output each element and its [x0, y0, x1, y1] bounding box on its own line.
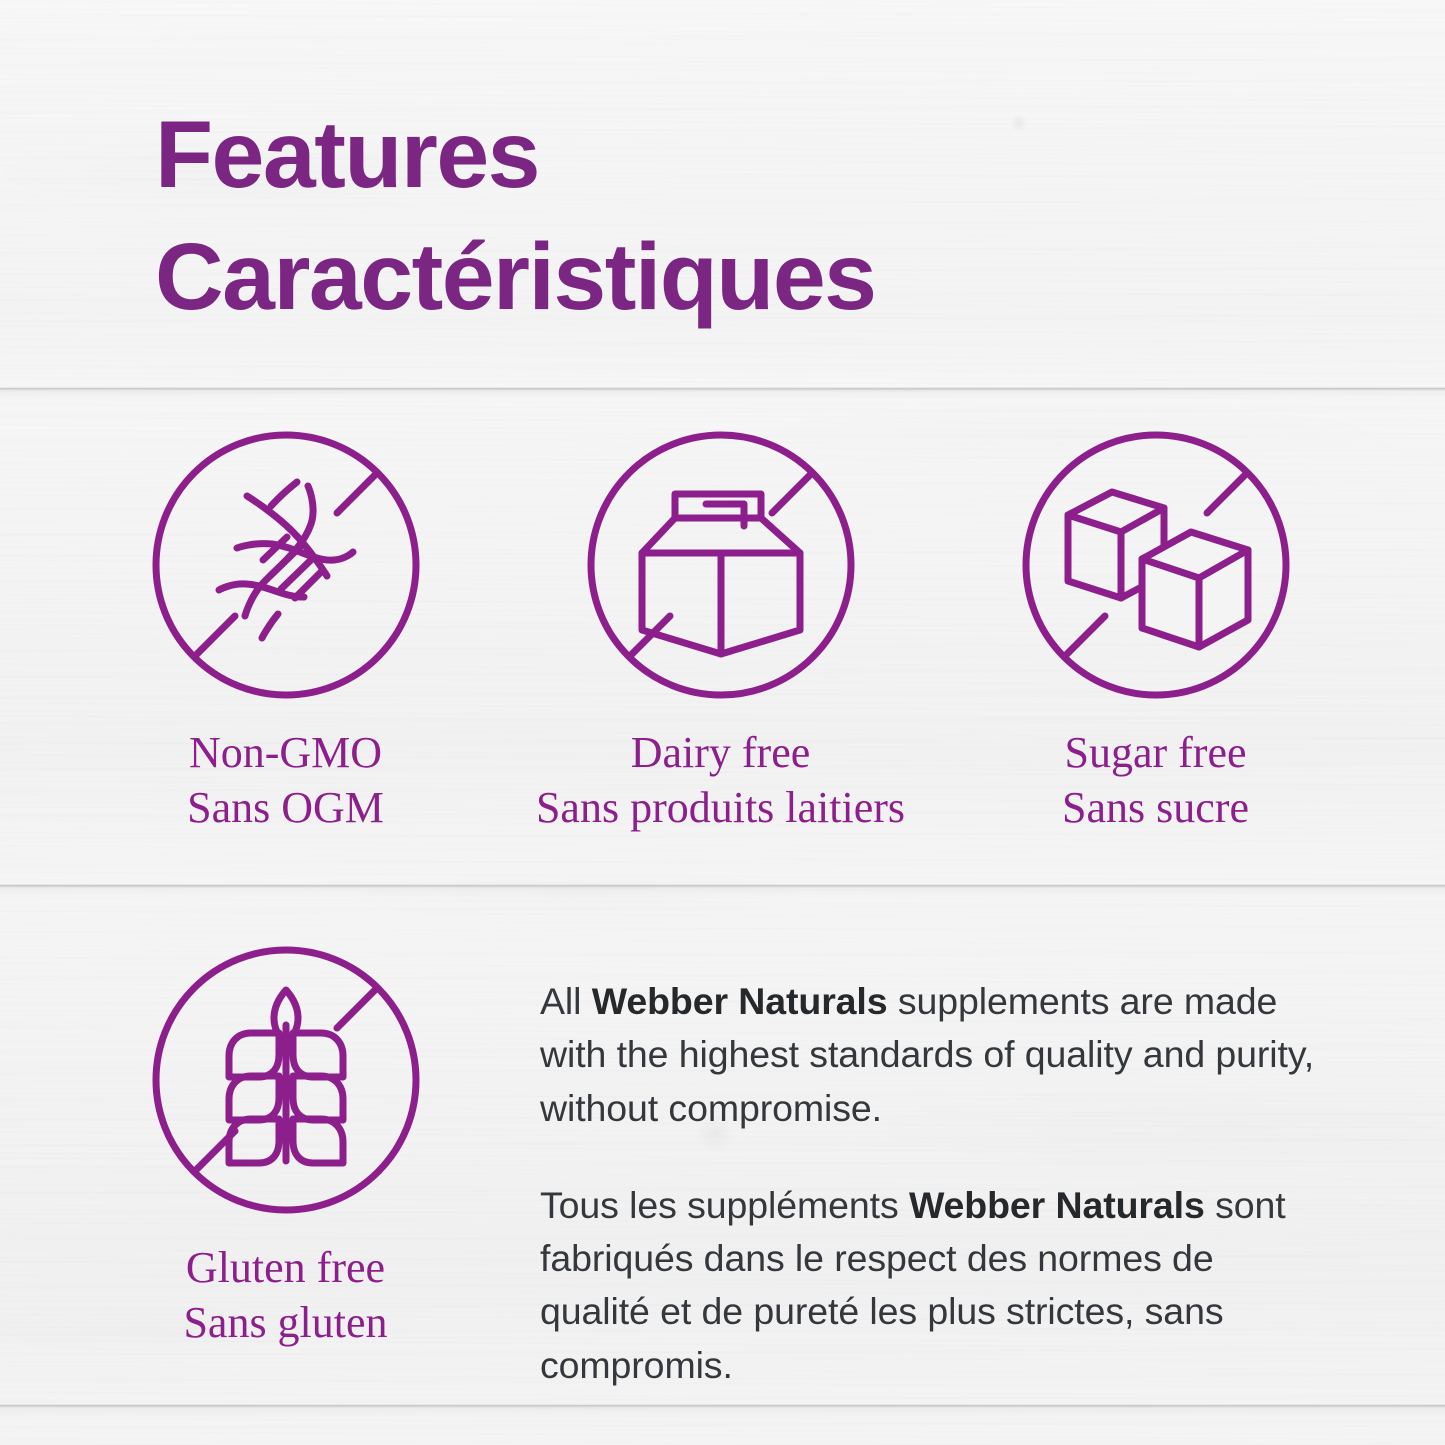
no-dairy-milk-carton-icon — [576, 420, 866, 710]
copy-en-brand: Webber Naturals — [592, 980, 888, 1022]
feature-label-fr: Sans OGM — [187, 781, 384, 836]
plank-seam-top — [0, 387, 1445, 391]
feature-gluten-free: Gluten free Sans gluten — [68, 935, 503, 1350]
no-sugar-cubes-icon — [1011, 420, 1301, 710]
feature-non-gmo: Non-GMO Sans OGM — [68, 420, 503, 835]
features-panel: Features Caractéristiques — [0, 0, 1445, 1445]
page-title-en: Features — [155, 95, 1335, 217]
copy-fr-before: Tous les suppléments — [540, 1184, 909, 1226]
no-gmo-dna-icon — [141, 420, 431, 710]
copy-en-before: All — [540, 980, 592, 1022]
feature-row-top: Non-GMO Sans OGM — [0, 420, 1445, 835]
copy-fr-brand: Webber Naturals — [909, 1184, 1205, 1226]
feature-label-en: Non-GMO — [189, 728, 382, 777]
brand-copy-block: All Webber Naturals supplements are made… — [540, 975, 1320, 1392]
feature-label-fr: Sans gluten — [183, 1296, 387, 1351]
plank-seam-middle — [0, 884, 1445, 888]
feature-label-fr: Sans sucre — [1062, 781, 1249, 836]
feature-label-en: Gluten free — [186, 1243, 385, 1292]
feature-label-en: Dairy free — [631, 728, 811, 777]
feature-caption-dairy-free: Dairy free Sans produits laitiers — [536, 726, 905, 835]
brand-copy-en: All Webber Naturals supplements are made… — [540, 975, 1320, 1135]
feature-label-en: Sugar free — [1064, 728, 1246, 777]
feature-caption-sugar-free: Sugar free Sans sucre — [1062, 726, 1249, 835]
feature-dairy-free: Dairy free Sans produits laitiers — [503, 420, 938, 835]
feature-caption-gluten-free: Gluten free Sans gluten — [183, 1241, 387, 1350]
plank-seam-bottom — [0, 1404, 1445, 1408]
page-title-fr: Caractéristiques — [155, 217, 1335, 339]
no-gluten-wheat-icon — [141, 935, 431, 1225]
feature-sugar-free: Sugar free Sans sucre — [938, 420, 1373, 835]
page-header: Features Caractéristiques — [155, 95, 1335, 338]
feature-caption-non-gmo: Non-GMO Sans OGM — [187, 726, 384, 835]
brand-copy-fr: Tous les suppléments Webber Naturals son… — [540, 1179, 1320, 1392]
feature-label-fr: Sans produits laitiers — [536, 781, 905, 836]
